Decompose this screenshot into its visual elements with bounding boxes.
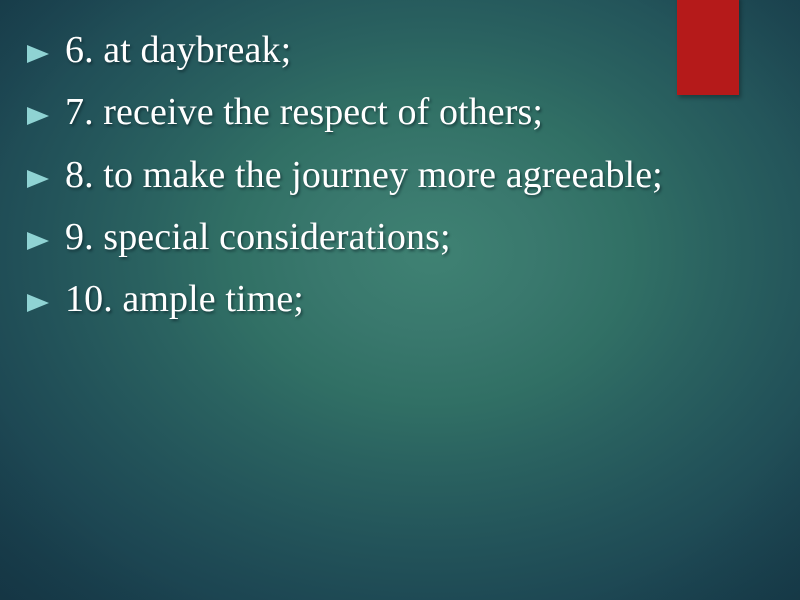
list-item[interactable]: 7. receive the respect of others;	[26, 88, 792, 136]
list-item[interactable]: 8. to make the journey more agreeable;	[26, 151, 792, 199]
triangle-right-icon	[27, 45, 49, 63]
triangle-right-icon	[27, 232, 49, 250]
list-item-label: 8. to make the journey more agreeable;	[65, 151, 792, 199]
bullet-list: 6. at daybreak; 7. receive the respect o…	[0, 0, 800, 323]
list-item-label: 9. special considerations;	[65, 213, 792, 261]
triangle-right-icon	[27, 170, 49, 188]
list-item[interactable]: 10. ample time;	[26, 275, 792, 323]
presentation-slide: 6. at daybreak; 7. receive the respect o…	[0, 0, 800, 600]
triangle-right-icon	[27, 107, 49, 125]
list-item[interactable]: 6. at daybreak;	[26, 26, 792, 74]
triangle-right-icon	[27, 294, 49, 312]
list-item-label: 10. ample time;	[65, 275, 792, 323]
list-item[interactable]: 9. special considerations;	[26, 213, 792, 261]
list-item-label: 6. at daybreak;	[65, 26, 792, 74]
list-item-label: 7. receive the respect of others;	[65, 88, 792, 136]
